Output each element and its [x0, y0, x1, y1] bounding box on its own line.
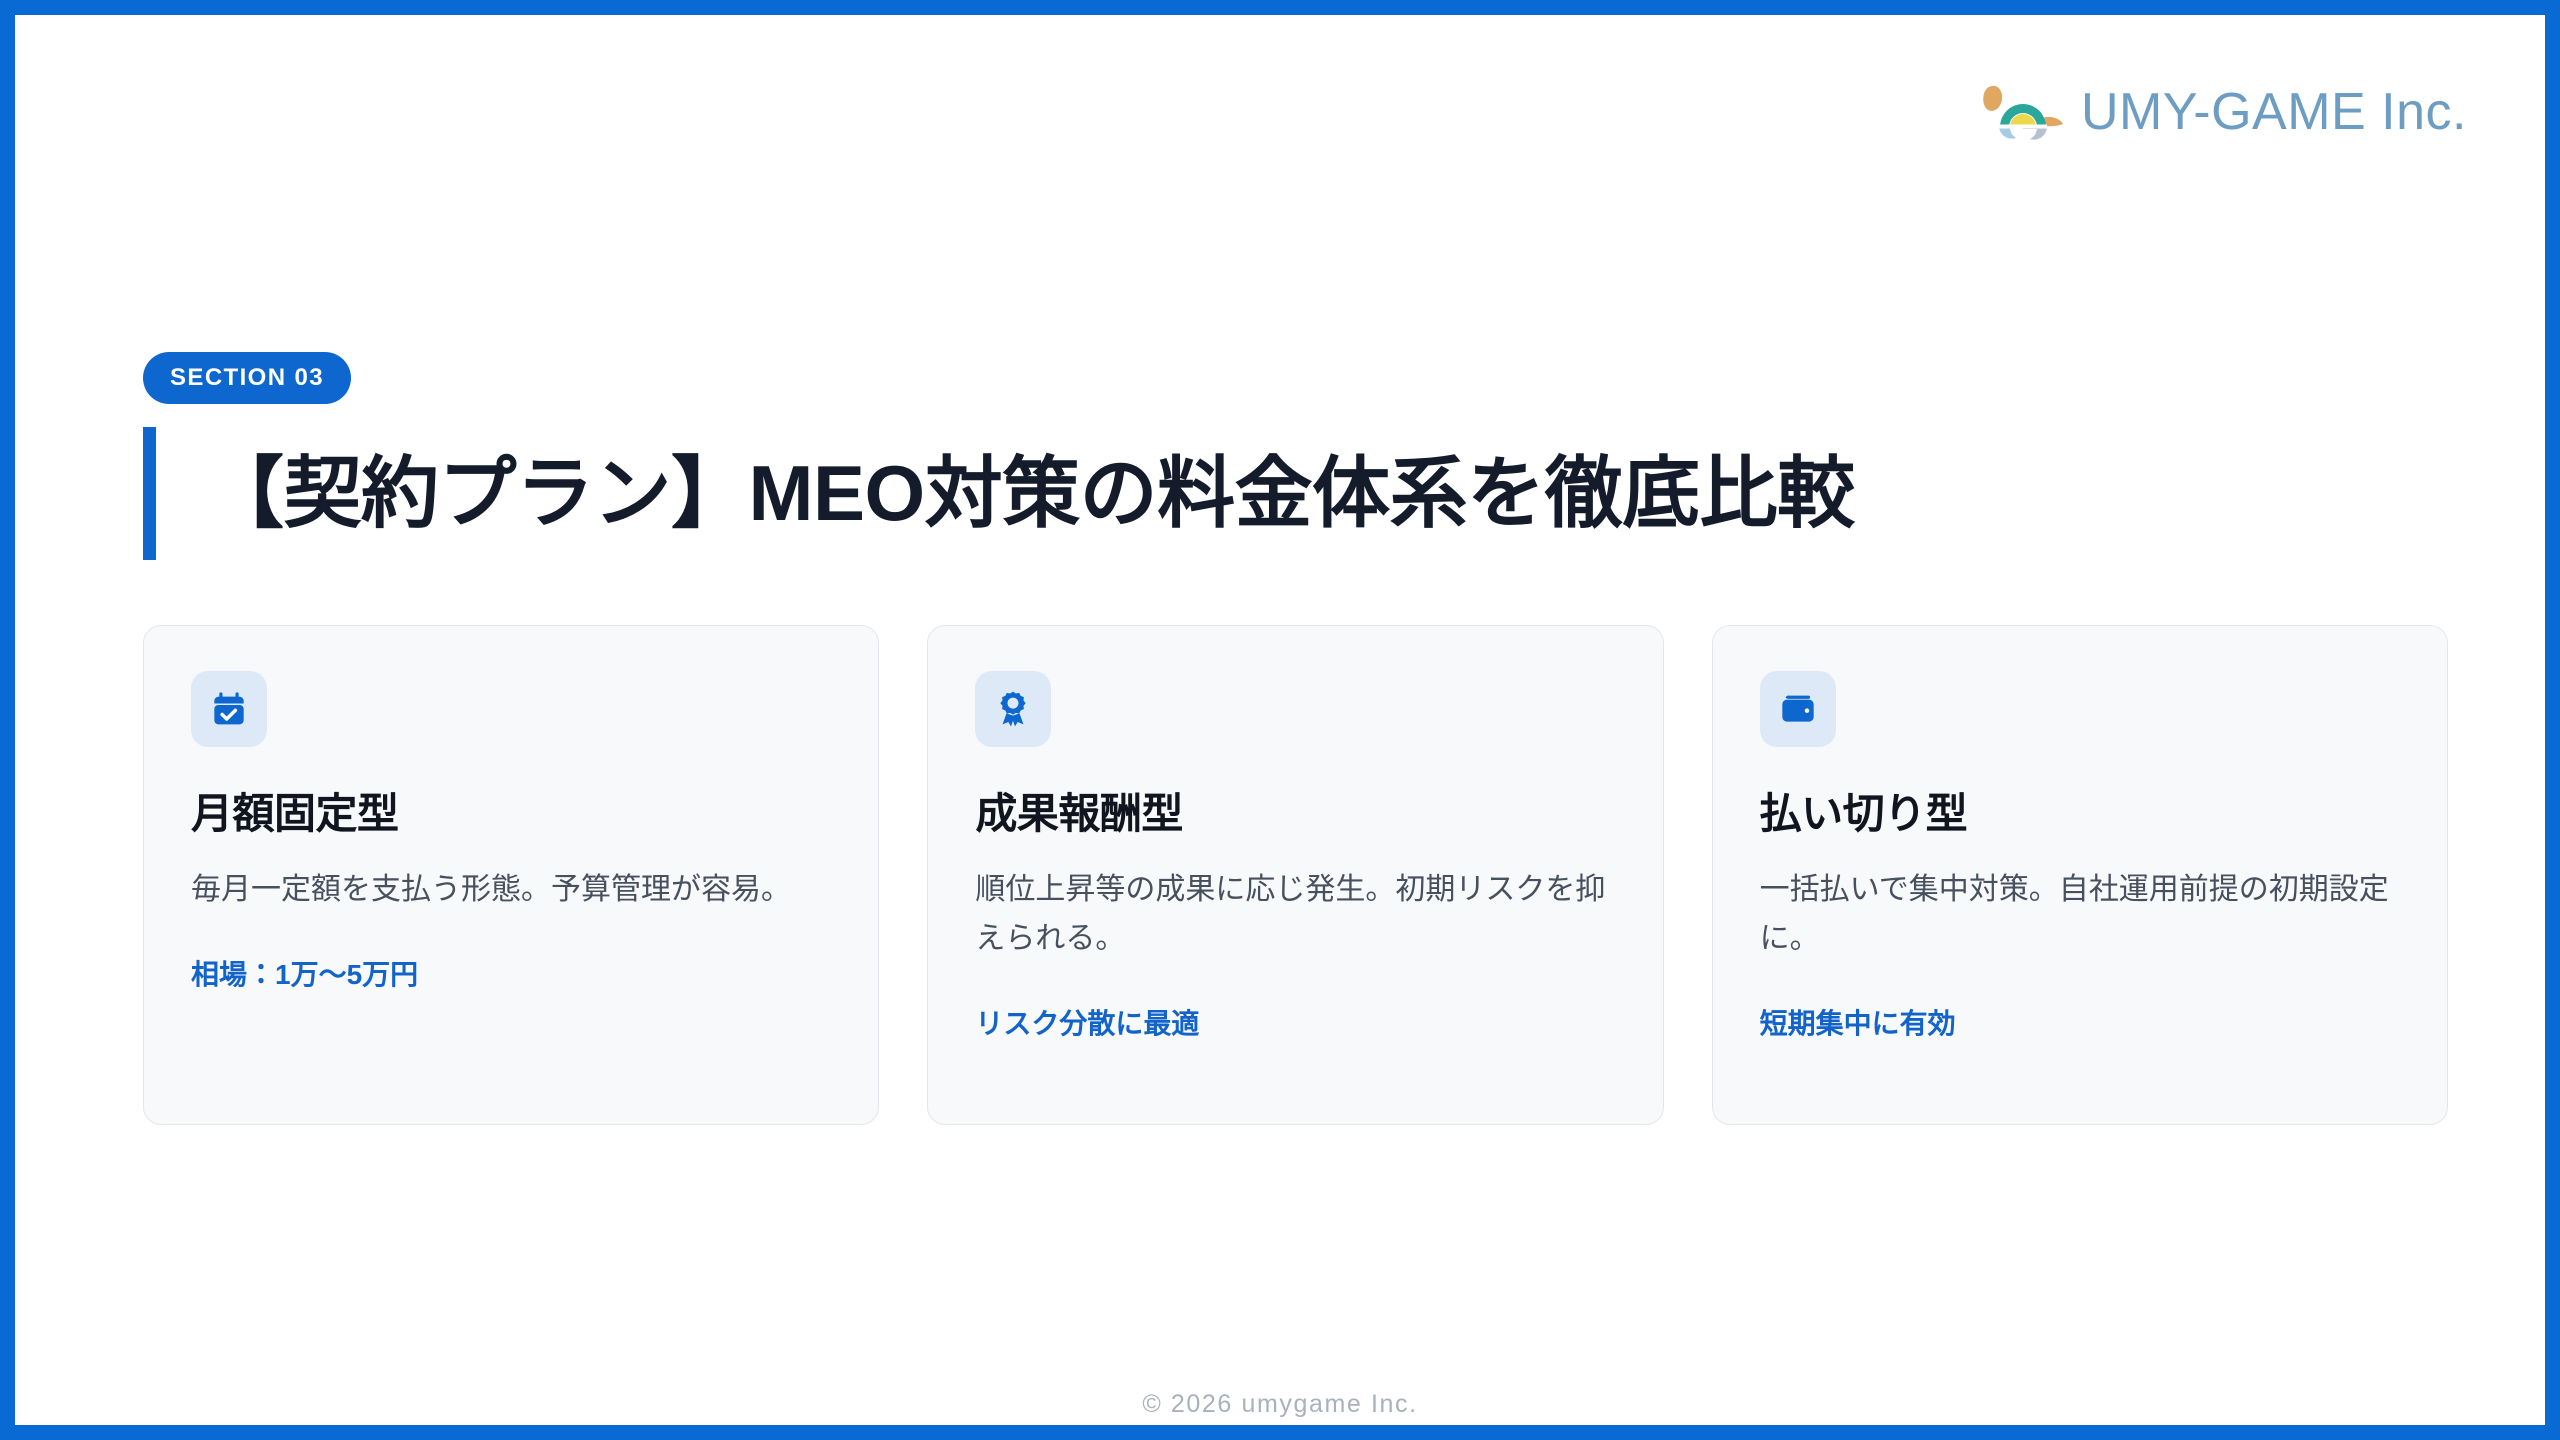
wallet-icon-tile [1760, 671, 1836, 747]
umygame-logo-mark [1975, 77, 2067, 147]
brand-header: UMY-GAME Inc. [1975, 77, 2467, 147]
wallet-icon [1778, 689, 1818, 729]
card-title: 月額固定型 [191, 789, 831, 839]
calendar-check-icon [209, 689, 249, 729]
card-note: 短期集中に有効 [1760, 1006, 2400, 1042]
section-badge: SECTION 03 [143, 352, 351, 404]
plan-card-performance-based[interactable]: 成果報酬型 順位上昇等の成果に応じ発生。初期リスクを抑えられる。 リスク分散に最… [927, 625, 1663, 1125]
plan-cards-row: 月額固定型 毎月一定額を支払う形態。予算管理が容易。 相場：1万〜5万円 成果報… [143, 625, 2448, 1125]
card-description: 順位上昇等の成果に応じ発生。初期リスクを抑えられる。 [975, 866, 1615, 963]
footer-copyright: © 2026 umygame Inc. [15, 1390, 2545, 1419]
title-accent-bar [143, 427, 156, 560]
slide-frame: UMY-GAME Inc. SECTION 03 【契約プラン】MEO対策の料金… [15, 15, 2545, 1425]
card-title: 成果報酬型 [975, 789, 1615, 839]
title-block: 【契約プラン】MEO対策の料金体系を徹底比較 [143, 427, 1855, 560]
card-title: 払い切り型 [1760, 789, 2400, 839]
card-note: リスク分散に最適 [975, 1006, 1615, 1042]
plan-card-one-time-payment[interactable]: 払い切り型 一括払いで集中対策。自社運用前提の初期設定に。 短期集中に有効 [1712, 625, 2448, 1125]
brand-name: UMY-GAME Inc. [2081, 86, 2467, 138]
card-note: 相場：1万〜5万円 [191, 957, 831, 993]
calendar-check-icon-tile [191, 671, 267, 747]
card-description: 毎月一定額を支払う形態。予算管理が容易。 [191, 866, 831, 915]
award-ribbon-icon [993, 689, 1033, 729]
page-title: 【契約プラン】MEO対策の料金体系を徹底比較 [206, 427, 1855, 560]
award-ribbon-icon-tile [975, 671, 1051, 747]
plan-card-monthly-fixed[interactable]: 月額固定型 毎月一定額を支払う形態。予算管理が容易。 相場：1万〜5万円 [143, 625, 879, 1125]
card-description: 一括払いで集中対策。自社運用前提の初期設定に。 [1760, 866, 2400, 963]
